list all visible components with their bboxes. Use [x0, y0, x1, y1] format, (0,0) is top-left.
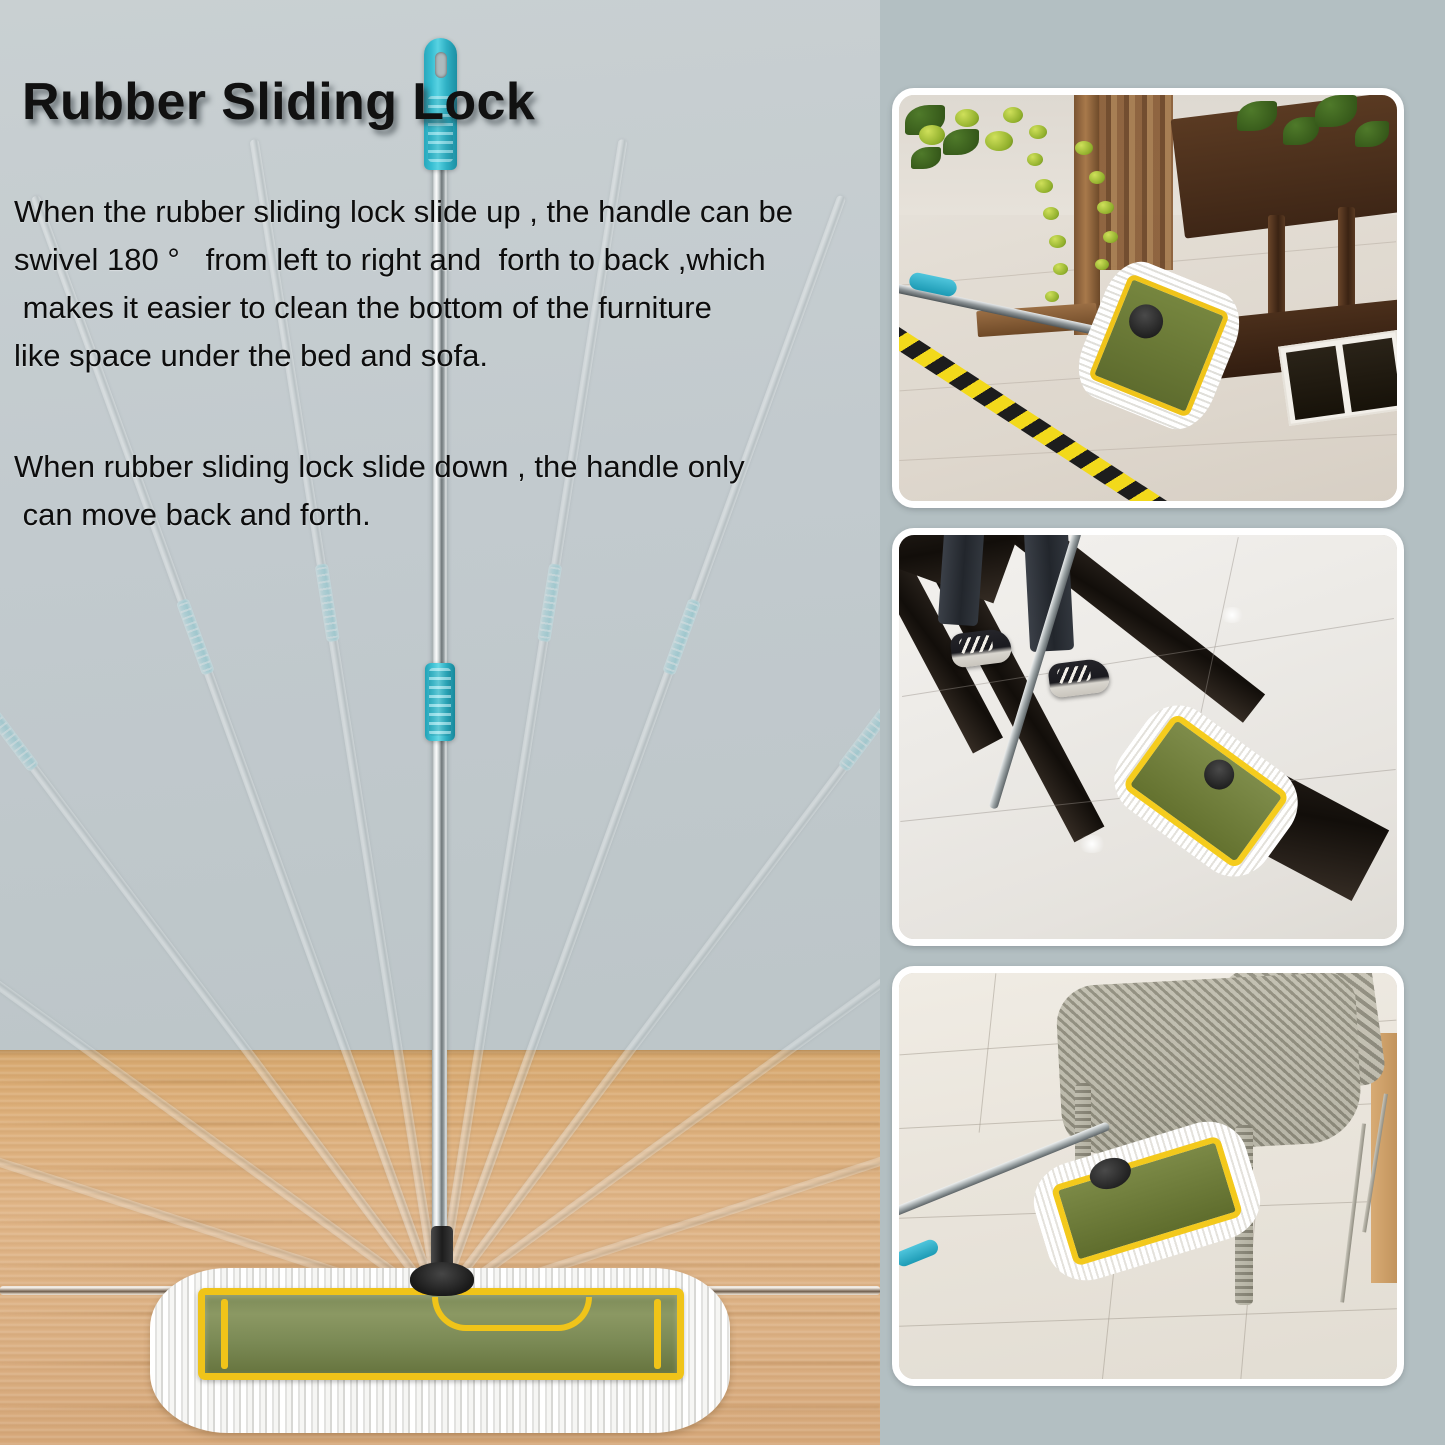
mop-pad	[198, 1288, 684, 1380]
photo-1-image	[899, 95, 1397, 501]
para1-line2: swivel 180 ° from left to right and fort…	[14, 236, 864, 284]
infographic-root: Rubber Sliding Lock When the rubber slid…	[0, 0, 1445, 1445]
page-title: Rubber Sliding Lock	[22, 72, 535, 132]
paragraph-swivel-up: When the rubber sliding lock slide up , …	[14, 188, 864, 380]
para2-line1: When rubber sliding lock slide down , th…	[14, 443, 864, 491]
product-illustration-panel: Rubber Sliding Lock When the rubber slid…	[0, 0, 880, 1445]
photo-mop-under-rattan-chair[interactable]	[892, 966, 1404, 1386]
para1-line3: makes it easier to clean the bottom of t…	[14, 284, 864, 332]
floor-pictures	[1278, 330, 1404, 426]
para1-line1: When the rubber sliding lock slide up , …	[14, 188, 864, 236]
photo-3-image	[899, 973, 1397, 1379]
para1-line4: like space under the bed and sofa.	[14, 332, 864, 380]
para2-line2: can move back and forth.	[14, 491, 864, 539]
rubber-sliding-lock-collar[interactable]	[425, 663, 455, 741]
lock-ribs	[429, 668, 451, 736]
paragraph-slide-down: When rubber sliding lock slide down , th…	[14, 443, 864, 539]
photo-2-image	[899, 535, 1397, 939]
mop-swivel-joint	[410, 1226, 474, 1296]
photo-mop-on-marble-floor[interactable]	[892, 528, 1404, 946]
photo-gallery-panel	[880, 0, 1445, 1445]
photo-mop-under-wooden-table[interactable]	[892, 88, 1404, 508]
